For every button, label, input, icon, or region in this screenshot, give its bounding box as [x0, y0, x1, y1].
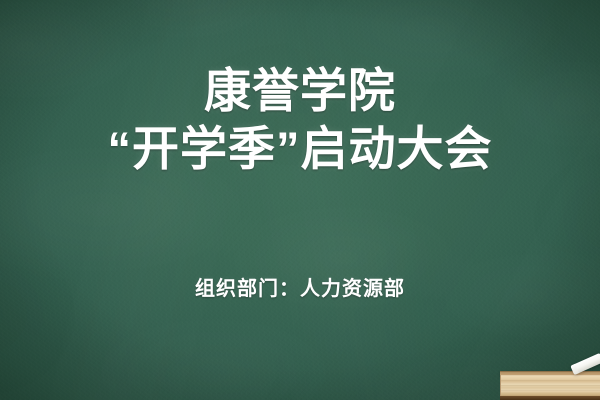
- slide-content: 康誉学院 “开学季”启动大会 组织部门：人力资源部: [0, 0, 600, 400]
- title-line-1: 康誉学院: [0, 62, 600, 120]
- chalk-ledge-base: [500, 396, 600, 400]
- title-slide: 康誉学院 “开学季”启动大会 组织部门：人力资源部: [0, 0, 600, 400]
- title-line-2: “开学季”启动大会: [0, 120, 600, 178]
- wood-grain-lines: [501, 375, 600, 396]
- slide-title: 康誉学院 “开学季”启动大会: [0, 62, 600, 178]
- chalk-ledge: [500, 371, 600, 400]
- chalk-ledge-face: [500, 375, 600, 396]
- slide-subtitle: 组织部门：人力资源部: [0, 275, 600, 303]
